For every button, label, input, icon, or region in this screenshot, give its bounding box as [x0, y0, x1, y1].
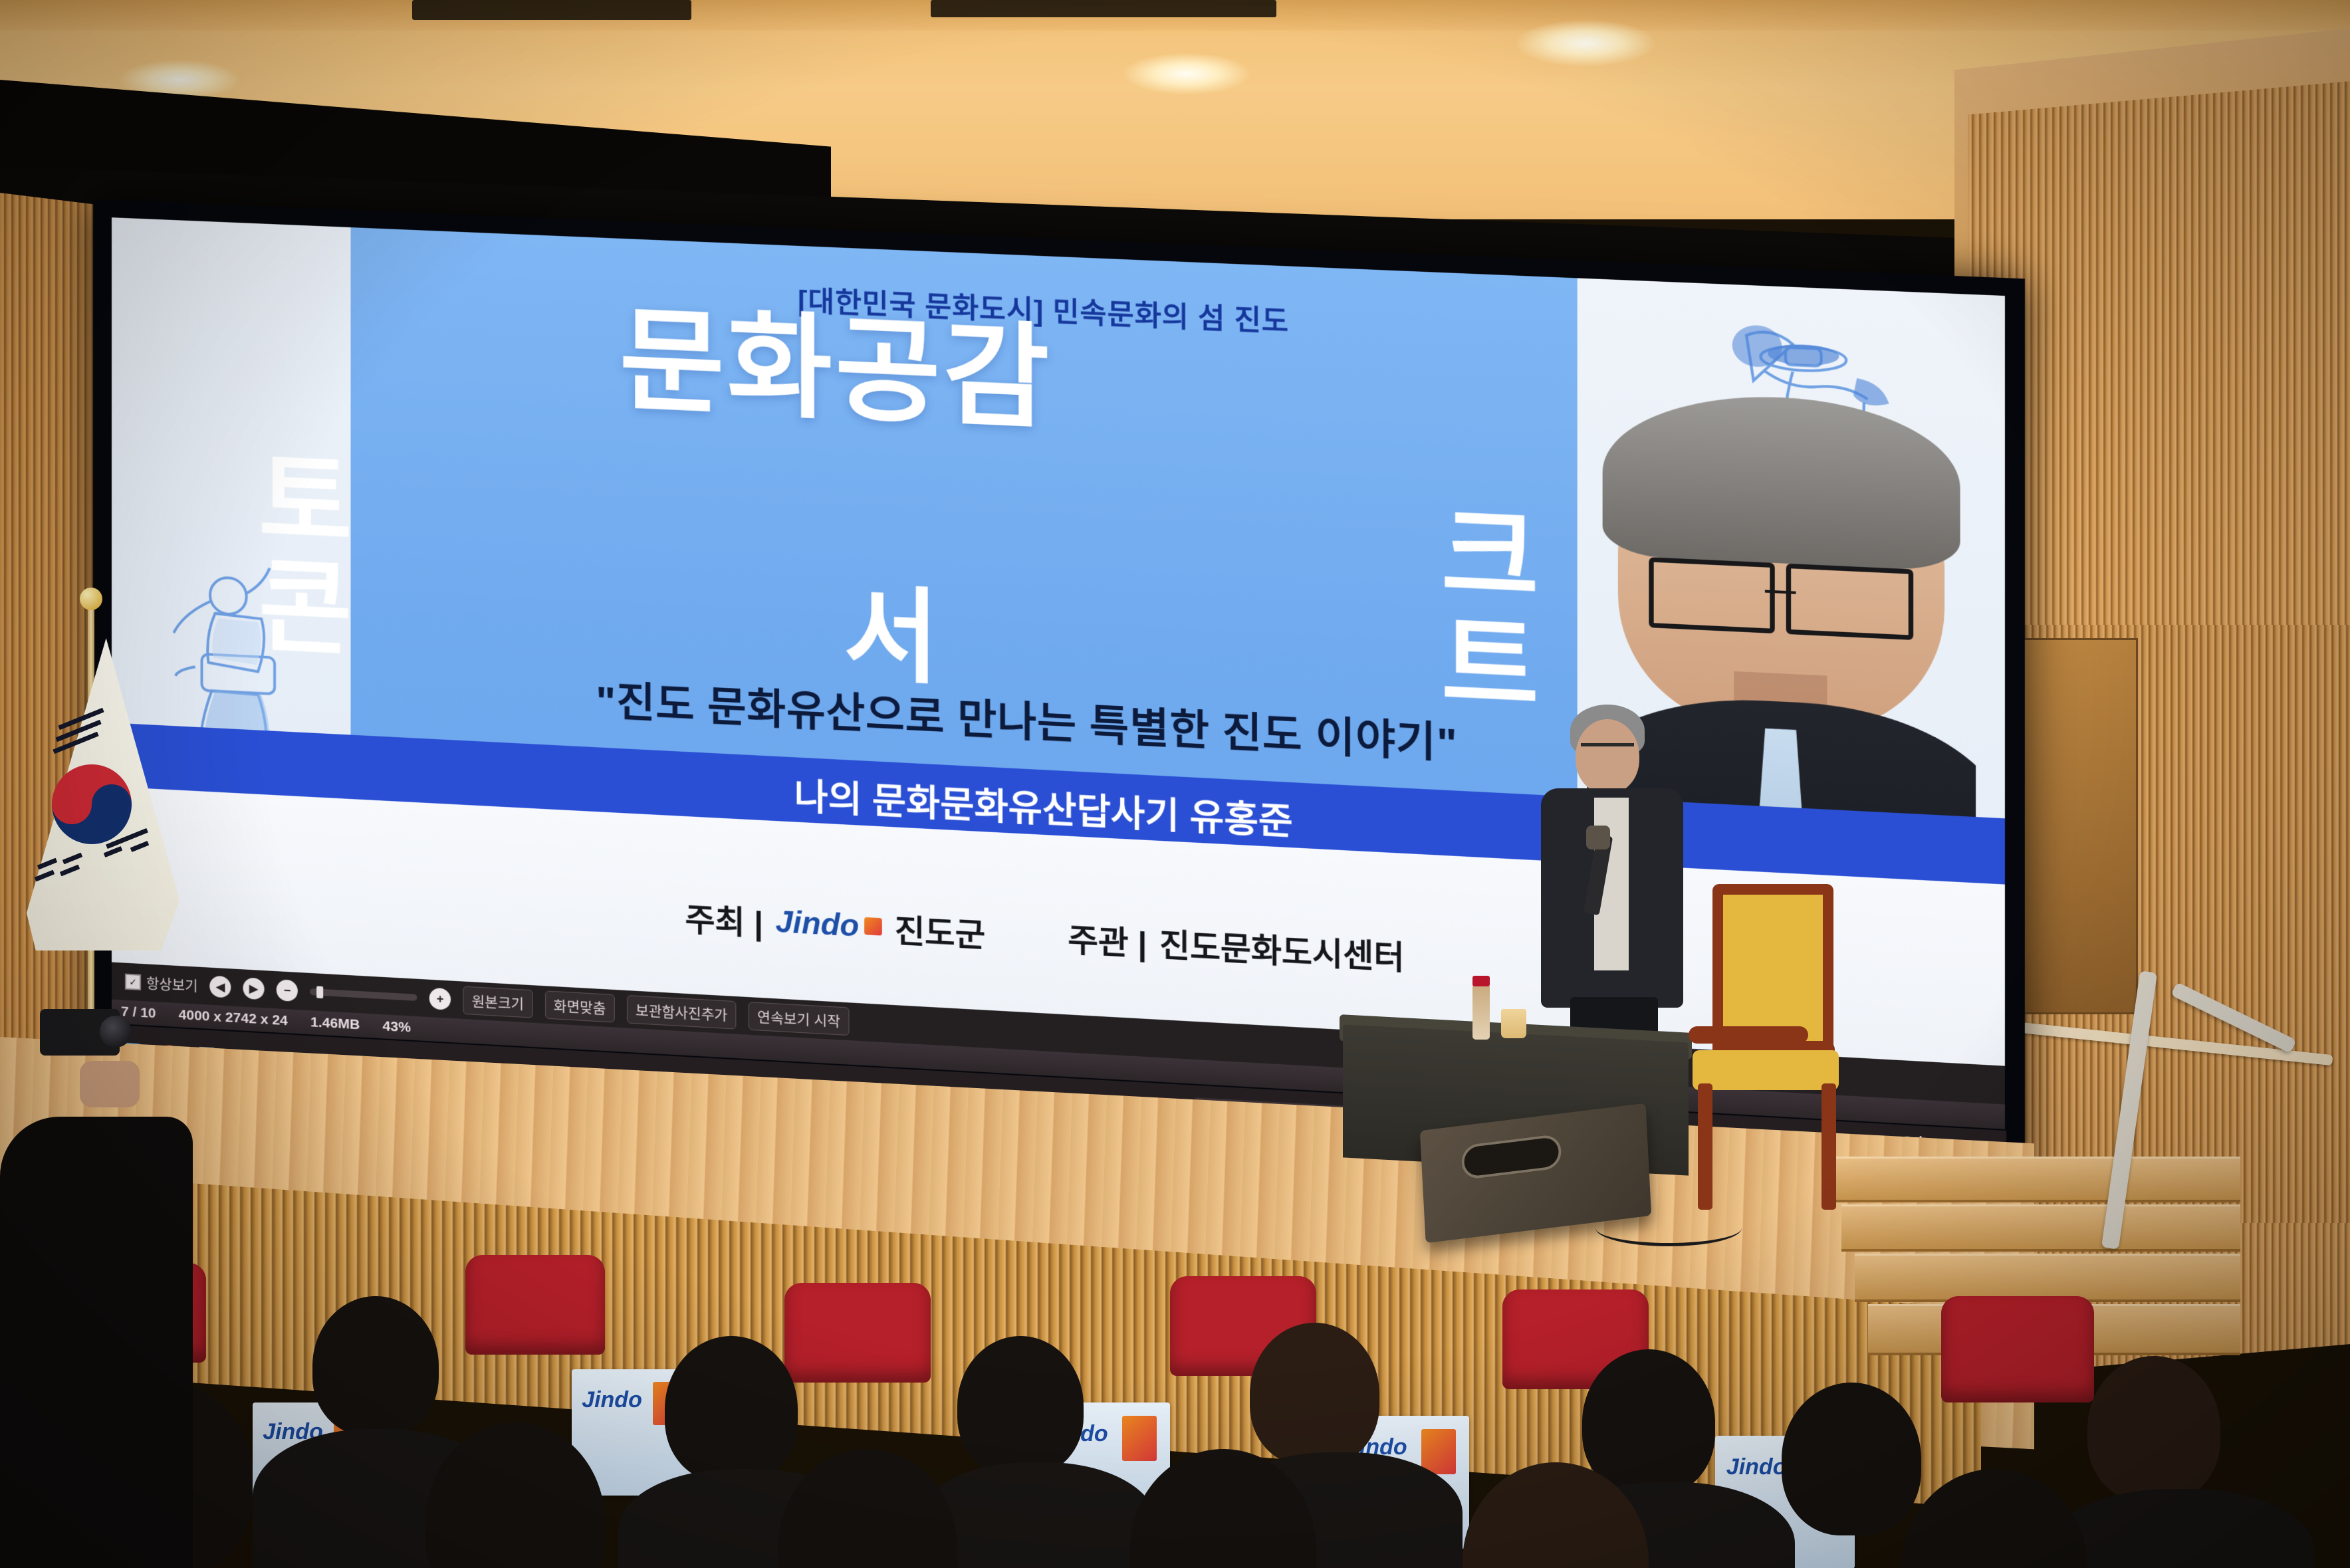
slideshow-start-button[interactable]: 연속보기 시작	[749, 1002, 849, 1036]
audience-head	[1250, 1323, 1379, 1466]
zoom-slider[interactable]	[310, 988, 417, 1001]
add-to-album-button[interactable]: 보관함사진추가	[627, 995, 737, 1030]
zoom-in-button[interactable]: +	[429, 988, 451, 1010]
auditorium-seat	[784, 1283, 931, 1383]
microphone-head	[1586, 826, 1610, 849]
next-image-button[interactable]: ▶	[243, 977, 265, 1000]
organizer-label: 주관 |	[1068, 913, 1147, 965]
jindo-logo-mark	[865, 917, 883, 936]
host-group: 주최 | Jindo 진도군	[685, 893, 985, 956]
jindo-logo: Jindo	[776, 903, 883, 945]
auditorium-seat	[465, 1255, 605, 1355]
ceiling-slot	[931, 0, 1276, 17]
zoom-out-button[interactable]: −	[277, 979, 298, 1002]
jindo-wordmark: Jindo	[1726, 1454, 1787, 1480]
audience-shoulders	[2048, 1489, 2313, 1568]
host-name: 진도군	[895, 904, 985, 956]
taeguk-symbol	[52, 764, 132, 844]
organizer-name: 진도문화도시센터	[1159, 918, 1404, 978]
audience-head	[1582, 1349, 1715, 1496]
bottle-cap	[1472, 976, 1490, 986]
host-label: 주최 |	[685, 893, 763, 944]
camera-lens-icon	[100, 1016, 132, 1048]
jindo-wordmark: Jindo	[776, 903, 860, 944]
fit-screen-button[interactable]: 화면맞춤	[545, 990, 615, 1022]
audience-seating: Jindo Jindo Jindo Jindo Jindo	[0, 1183, 2350, 1568]
zoom-level: 43%	[383, 1018, 411, 1036]
chair-seat	[1693, 1050, 1839, 1090]
photographer-hand	[80, 1061, 140, 1107]
photographer	[0, 997, 199, 1568]
always-view-label: 항상보기	[146, 972, 197, 995]
always-view-checkbox[interactable]: ✓ 항상보기	[125, 972, 197, 996]
flag-pole-finial	[80, 588, 102, 610]
jindo-logo-mark	[1421, 1429, 1456, 1474]
audience-head	[2087, 1356, 2220, 1502]
audience-head	[312, 1296, 439, 1436]
speaker-grille	[1461, 1133, 1562, 1180]
audience-head	[957, 1336, 1084, 1476]
jindo-logo-mark	[1122, 1416, 1157, 1461]
water-bottle	[1472, 984, 1490, 1040]
ceiling-light	[1516, 20, 1655, 66]
auditorium-seat	[1941, 1296, 2094, 1402]
photo-scene: [대한민국 문화도시] 민속문화의 섬 진도 문화공감 토 크 콘 서 트 "진…	[0, 0, 2350, 1568]
audience-head	[1901, 1469, 2087, 1568]
image-filesize: 1.46MB	[310, 1014, 360, 1033]
presenter-glasses	[1581, 743, 1634, 760]
organizer-group: 주관 | 진도문화도시센터	[1068, 913, 1404, 979]
jindo-wordmark: Jindo	[582, 1387, 642, 1413]
audience-head	[778, 1449, 957, 1568]
ceiling-light	[1123, 53, 1250, 94]
audience-head	[665, 1336, 798, 1482]
prev-image-button[interactable]: ◀	[210, 976, 231, 998]
paper-cup	[1501, 1009, 1526, 1038]
wooden-armchair	[1689, 884, 1848, 1203]
original-size-button[interactable]: 원본크기	[463, 986, 533, 1018]
audience-head	[1782, 1383, 1921, 1535]
ceiling-slot	[412, 0, 691, 20]
